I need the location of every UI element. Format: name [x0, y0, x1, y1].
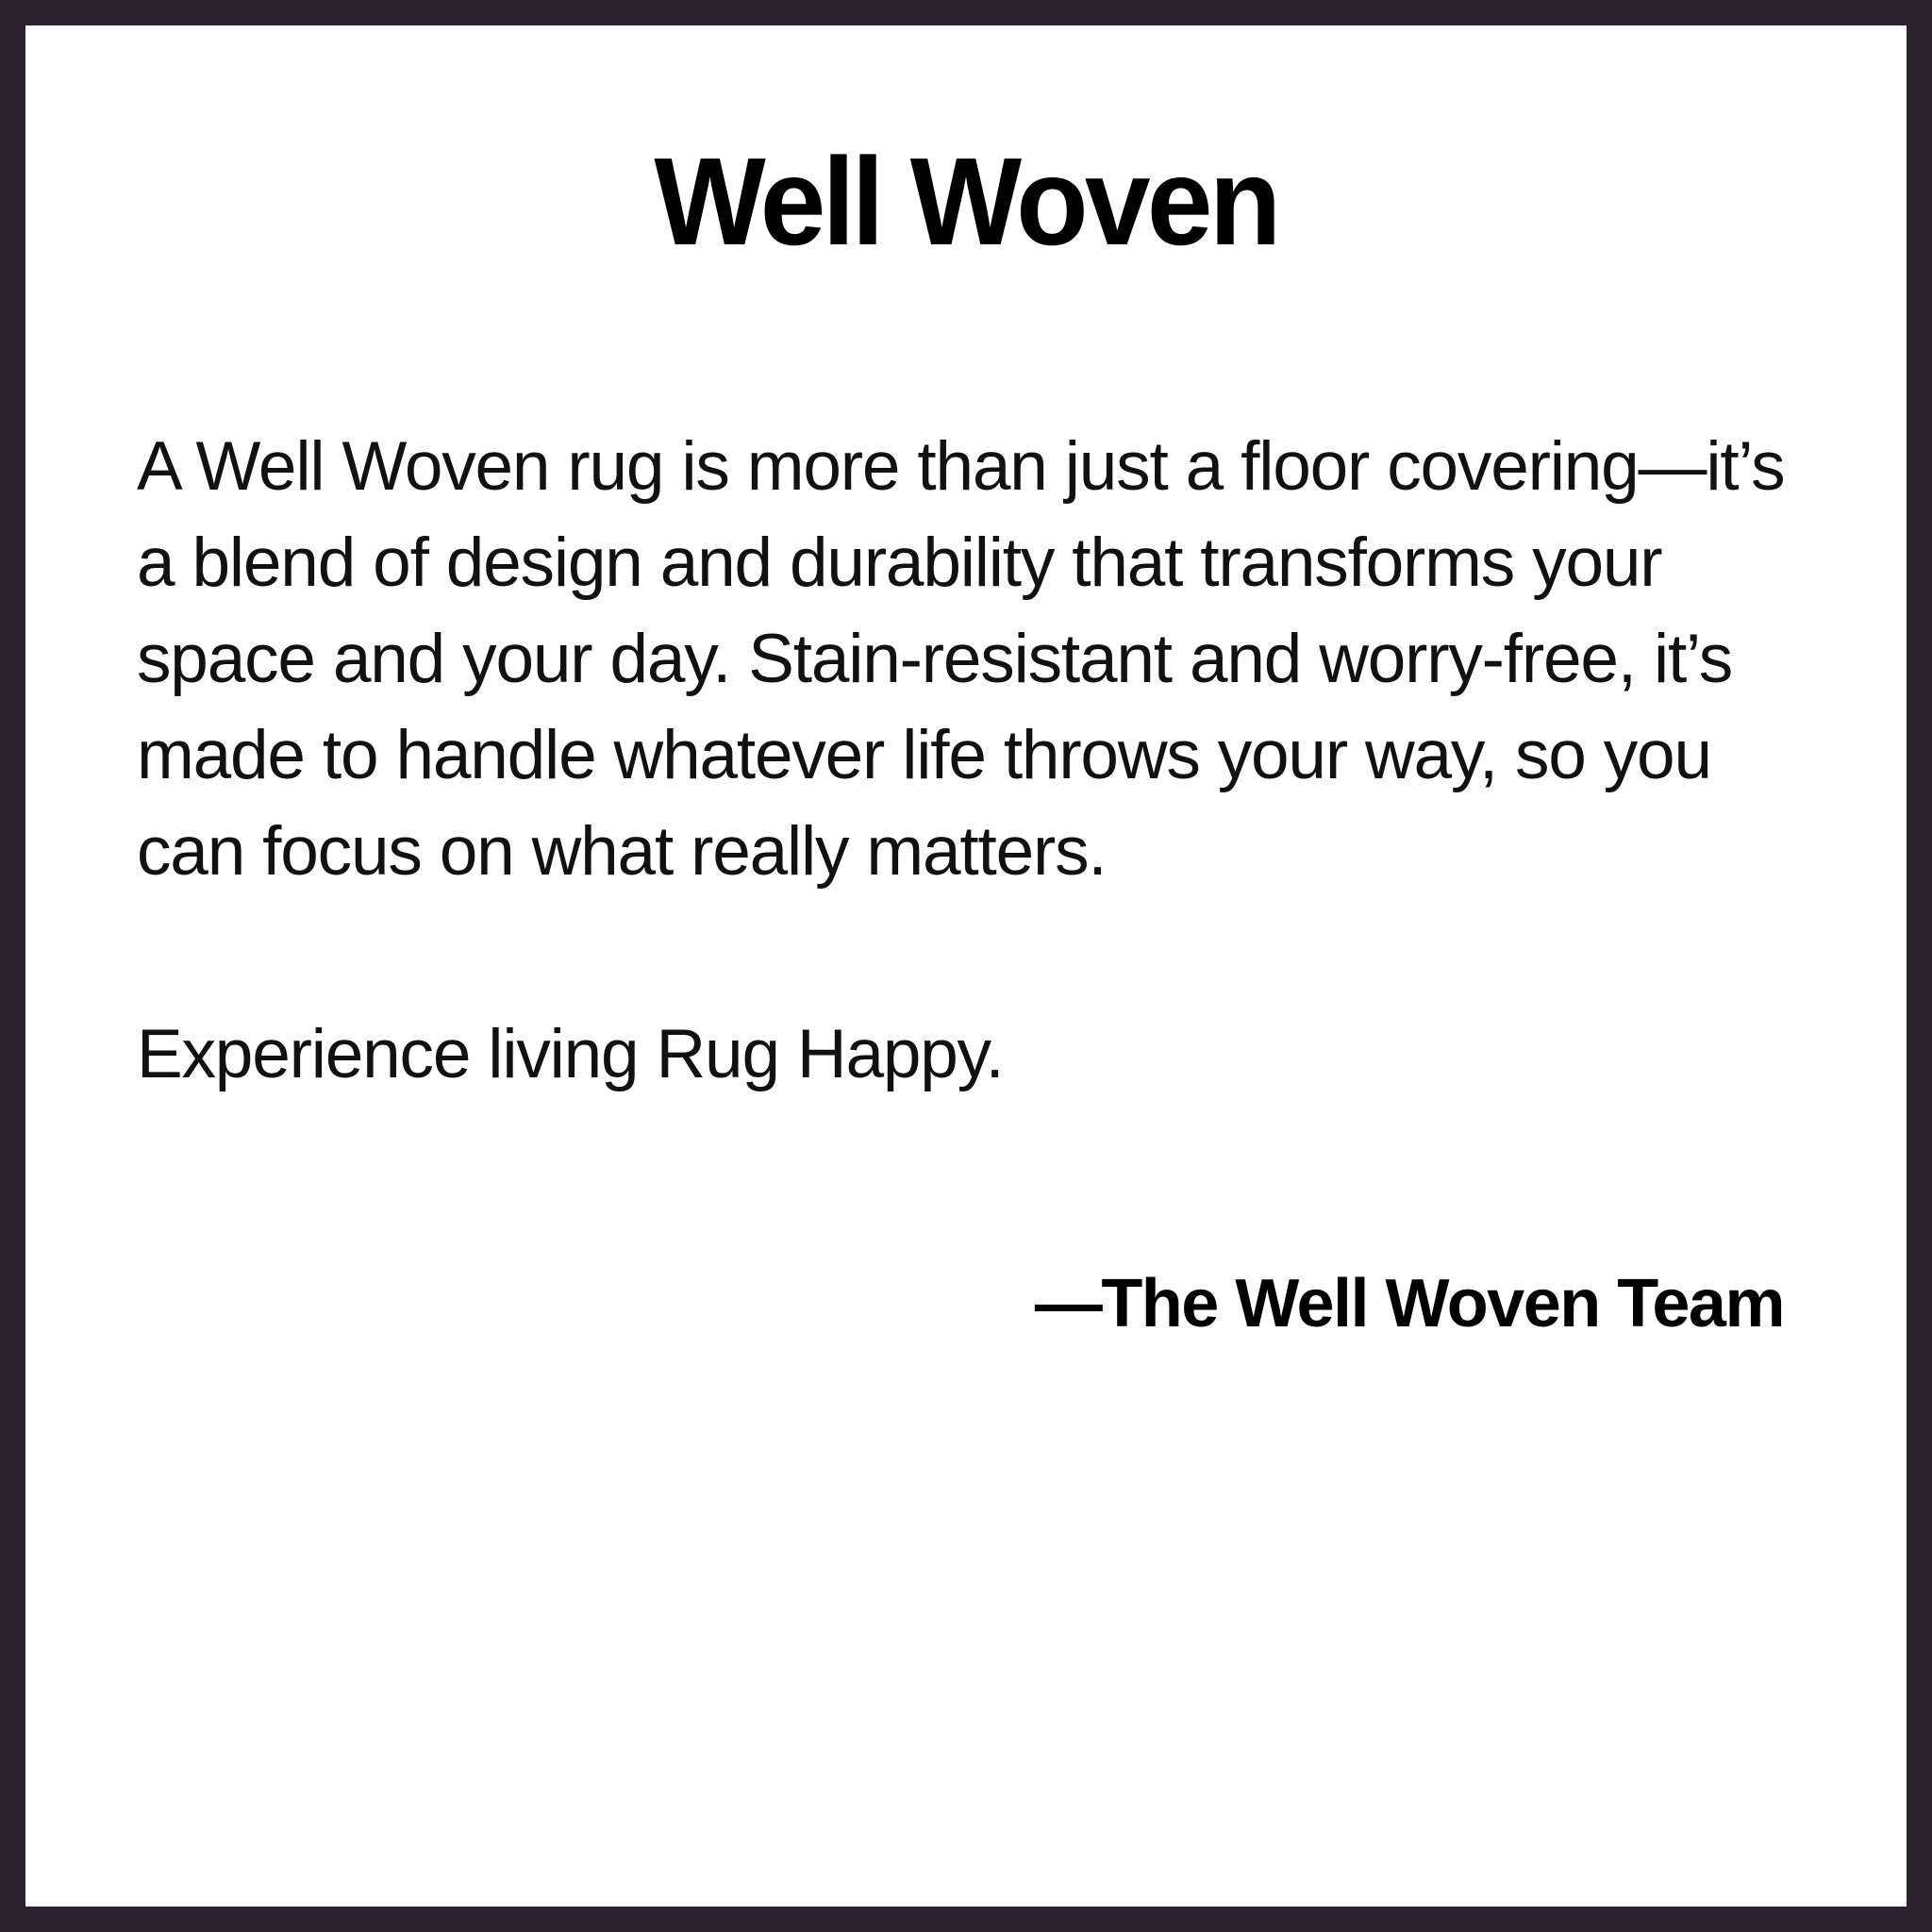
- brand-header: Well Woven: [25, 25, 1907, 268]
- email-outer-frame: Well Woven A Well Woven rug is more than…: [0, 0, 1932, 1932]
- page-title: Well Woven: [654, 137, 1277, 268]
- signature-line: —The Well Woven Team: [1035, 1263, 1784, 1344]
- email-card: Well Woven A Well Woven rug is more than…: [25, 25, 1907, 1907]
- body-paragraph-tagline: Experience living Rug Happy.: [137, 1007, 1793, 1103]
- email-body-content: A Well Woven rug is more than just a flo…: [25, 419, 1907, 1103]
- signature-block: —The Well Woven Team: [25, 1263, 1907, 1344]
- paragraph-spacer: [137, 901, 1793, 1007]
- body-paragraph-intro: A Well Woven rug is more than just a flo…: [137, 419, 1793, 901]
